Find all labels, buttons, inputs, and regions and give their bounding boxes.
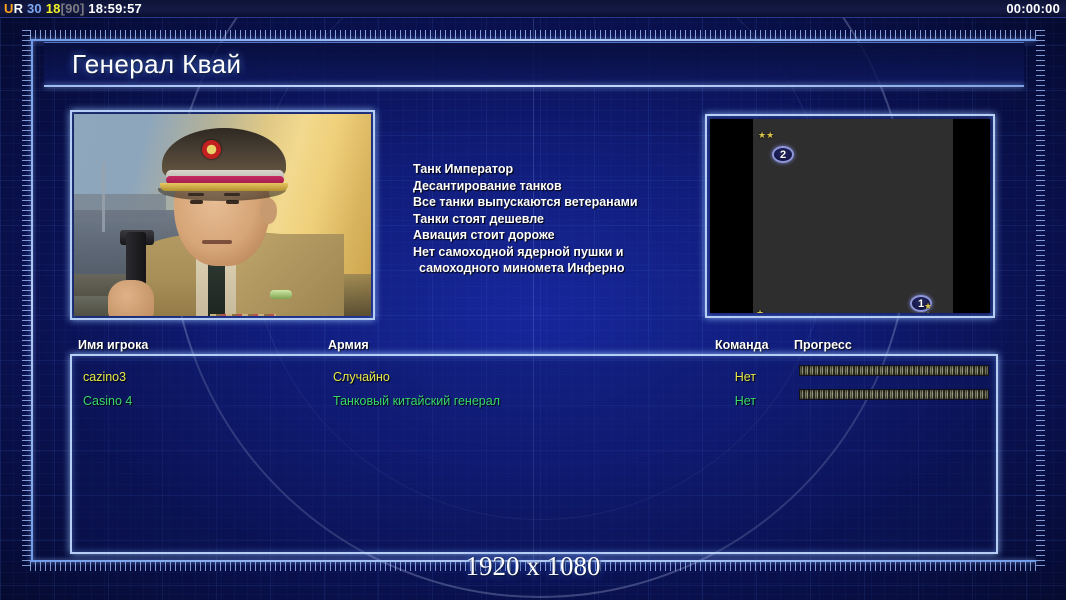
minimap[interactable]: 2 1 ★★ ★ ★ ★: [710, 119, 990, 313]
portrait-ear: [260, 198, 277, 224]
general-portrait-image: [74, 114, 371, 316]
status-ping-max: [90]: [61, 1, 85, 16]
status-clock: 18:59:57: [88, 1, 142, 16]
description-line: Авиация стоит дороже: [413, 227, 685, 244]
portrait-pole: [102, 162, 105, 232]
general-portrait-frame: [70, 110, 375, 320]
column-header-team: Команда: [715, 338, 769, 352]
portrait-medal-ribbon: [210, 314, 276, 316]
player-army[interactable]: Танковый китайский генерал: [333, 389, 500, 413]
portrait-eye-left: [190, 200, 203, 204]
player-team[interactable]: Нет: [720, 389, 756, 413]
description-line: Танк Император: [413, 161, 685, 178]
player-team[interactable]: Нет: [720, 365, 756, 389]
player-name: Casino 4: [83, 389, 132, 413]
portrait-mouth: [202, 240, 232, 244]
column-header-name: Имя игрока: [78, 338, 148, 352]
status-ping-value: 18: [46, 1, 61, 16]
minimap-star-icon: ★: [924, 311, 932, 313]
description-line: Танки стоят дешевле: [413, 211, 685, 228]
status-bar: UR 30 18[90] 18:59:57 00:00:00: [0, 0, 1066, 18]
title-panel: Генерал Квай: [44, 42, 1024, 86]
frame-ruler-left: [22, 30, 31, 570]
portrait-hand: [108, 280, 154, 316]
status-timer: 00:00:00: [1006, 0, 1060, 18]
status-fps-value: 30: [27, 1, 42, 16]
player-list-frame: cazino3 Случайно Нет Casino 4 Танковый к…: [70, 354, 998, 554]
column-header-army: Армия: [328, 338, 369, 352]
minimap-star-icon: ★★: [758, 131, 774, 140]
description-line: Все танки выпускаются ветеранами: [413, 194, 685, 211]
page-title: Генерал Квай: [72, 49, 241, 80]
status-r-label: R: [14, 1, 24, 16]
minimap-start-position-2[interactable]: 2: [772, 146, 794, 163]
column-header-progress: Прогресс: [794, 338, 852, 352]
player-army[interactable]: Случайно: [333, 365, 390, 389]
status-u-label: U: [4, 1, 14, 16]
portrait-wing-pin-icon: [270, 290, 292, 299]
player-list: cazino3 Случайно Нет Casino 4 Танковый к…: [75, 359, 993, 549]
player-name: cazino3: [83, 365, 126, 389]
frame-line-left: [31, 39, 33, 562]
portrait-cap-badge-icon: [202, 140, 221, 159]
minimap-star-icon: ★: [756, 309, 764, 313]
resolution-caption: 1920 x 1080: [0, 551, 1066, 582]
frame-ruler-top: [30, 30, 1036, 39]
frame-ruler-right: [1036, 30, 1045, 570]
general-description: Танк Император Десантирование танков Все…: [413, 161, 685, 277]
description-line: Нет самоходной ядерной пушки и: [413, 244, 685, 261]
player-progress-bar: [799, 389, 989, 400]
description-line: самоходного миномета Инферно: [413, 260, 685, 277]
table-row[interactable]: cazino3 Случайно Нет: [75, 365, 993, 389]
progress-fill: [799, 389, 989, 400]
portrait-cap-gold-trim: [160, 183, 288, 191]
game-screen: UR 30 18[90] 18:59:57 00:00:00 Генерал К…: [0, 0, 1066, 600]
table-row[interactable]: Casino 4 Танковый китайский генерал Нет: [75, 389, 993, 413]
status-left-group: UR 30 18[90] 18:59:57: [4, 0, 142, 18]
minimap-frame[interactable]: 2 1 ★★ ★ ★ ★: [705, 114, 995, 318]
player-progress-bar: [799, 365, 989, 376]
frame-line-top: [30, 39, 1036, 41]
progress-fill: [799, 365, 989, 376]
description-line: Десантирование танков: [413, 178, 685, 195]
